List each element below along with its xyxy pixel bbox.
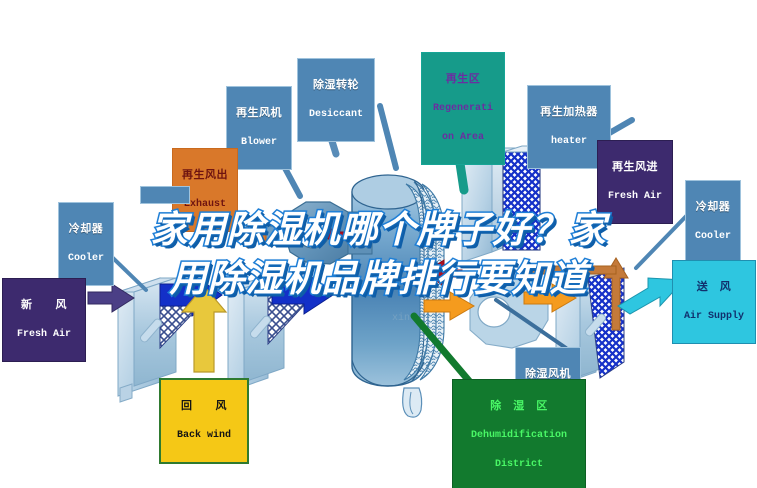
label-back-wind-cn: 回 风 xyxy=(165,400,243,412)
label-regen-fresh-air-in-cn: 再生风进 xyxy=(602,161,668,173)
rotor-watermark: xin xyxy=(392,312,410,324)
label-regen-heater-cn: 再生加热器 xyxy=(532,106,606,118)
label-desiccant-wheel-cn: 除湿转轮 xyxy=(302,79,370,91)
label-dehumidification-district: 除 湿 区 Dehumidification District xyxy=(452,379,586,488)
label-fresh-air-in: 新 风 Fresh Air xyxy=(2,278,86,362)
label-cooler-right-en: Cooler xyxy=(690,231,736,242)
label-fresh-air-in-en: Fresh Air xyxy=(7,329,81,340)
label-cooler-left-front-cn: 冷却器 xyxy=(63,223,109,235)
label-regen-blower-cn: 再生风机 xyxy=(231,107,287,119)
label-cooler-left-back: 冷却器 xyxy=(140,186,190,204)
label-regeneration-area: 再生区 Regenerati on Area xyxy=(421,52,505,165)
label-regen-fresh-air-in-en: Fresh Air xyxy=(602,191,668,202)
label-air-supply: 送 风 Air Supply xyxy=(672,260,756,344)
label-regeneration-area-en-1: Regenerati xyxy=(426,103,500,114)
label-regen-blower-en: Blower xyxy=(231,137,287,148)
label-fresh-air-in-cn: 新 风 xyxy=(7,299,81,311)
desiccant-rotor xyxy=(352,175,444,417)
label-dehumidification-district-en-2: District xyxy=(457,459,581,470)
label-regen-heater-en: heater xyxy=(532,136,606,147)
dehumid-blower-housing xyxy=(470,276,548,348)
label-back-wind-en: Back wind xyxy=(165,430,243,441)
label-dehumidification-district-cn: 除 湿 区 xyxy=(457,400,581,412)
label-cooler-right-cn: 冷却器 xyxy=(690,201,736,213)
label-regeneration-area-en-2: on Area xyxy=(426,132,500,143)
label-regen-exhaust-cn: 再生风出 xyxy=(177,169,233,181)
label-regen-fresh-air-in: 再生风进 Fresh Air xyxy=(597,140,673,224)
label-desiccant-wheel: 除湿转轮 Desiccant xyxy=(297,58,375,142)
label-cooler-left-front-en: Cooler xyxy=(63,253,109,264)
label-desiccant-wheel-en: Desiccant xyxy=(302,109,370,120)
label-dehumidification-district-en-1: Dehumidification xyxy=(457,430,581,441)
label-cooler-left-front: 冷却器 Cooler xyxy=(58,202,114,286)
label-air-supply-en: Air Supply xyxy=(677,311,751,322)
label-regeneration-area-cn: 再生区 xyxy=(426,73,500,85)
label-air-supply-cn: 送 风 xyxy=(677,281,751,293)
label-back-wind: 回 风 Back wind xyxy=(159,378,249,464)
label-cooler-right: 冷却器 Cooler xyxy=(685,180,741,264)
dehumidifier-schematic-image: xin 除湿转轮 Desiccant 再生风机 Blower 再生区 Regen… xyxy=(0,0,757,488)
